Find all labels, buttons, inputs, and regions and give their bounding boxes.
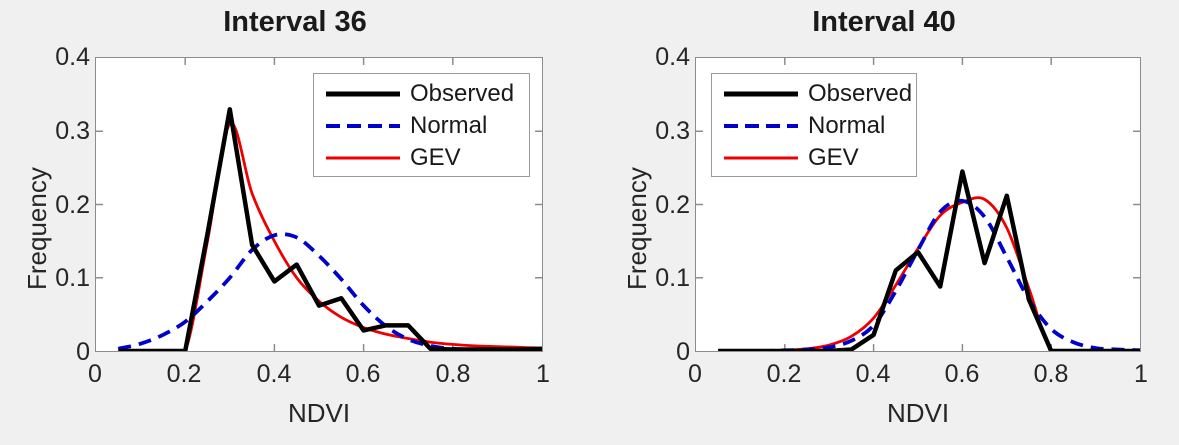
ytick-label: 0.3	[604, 119, 690, 144]
page-title: Interval 36	[0, 6, 590, 39]
xtick-label: 0.6	[922, 360, 1002, 389]
xtick-label: 1	[1101, 360, 1179, 389]
legend-line-normal-icon	[324, 116, 402, 136]
x-axis-label: NDVI	[695, 398, 1141, 429]
legend-item-gev: GEV	[722, 142, 859, 174]
legend-label: Normal	[410, 114, 487, 138]
legend-line-observed-icon	[324, 84, 402, 104]
legend-label: Normal	[808, 114, 885, 138]
legend-item-normal: Normal	[722, 110, 885, 142]
xtick-label: 0.8	[1011, 360, 1091, 389]
xtick-label: 0.2	[144, 360, 224, 389]
xtick-label: 0.8	[413, 360, 493, 389]
y-axis-label: Frequency	[622, 167, 653, 290]
legend: Observed Normal GEV	[711, 73, 917, 177]
xtick-label: 0	[55, 360, 135, 389]
legend-label: GEV	[808, 146, 859, 170]
ytick-label: 0.4	[4, 45, 90, 70]
series-line-normal	[118, 234, 542, 349]
page-title: Interval 40	[589, 6, 1179, 39]
xtick-label: 0	[655, 360, 735, 389]
legend-item-observed: Observed	[324, 78, 514, 110]
legend-line-gev-icon	[324, 148, 402, 168]
xtick-label: 0.2	[744, 360, 824, 389]
legend-item-normal: Normal	[324, 110, 487, 142]
panel-interval-40: Interval 40 0.4 0.3 0.2 0.1 0 0 0.2 0.4 …	[589, 0, 1179, 445]
xtick-label: 1	[503, 360, 583, 389]
series-line-observed	[718, 172, 1140, 351]
ytick-label: 0.3	[4, 119, 90, 144]
legend-item-gev: GEV	[324, 142, 461, 174]
legend-label: GEV	[410, 146, 461, 170]
legend-line-normal-icon	[722, 116, 800, 136]
xtick-label: 0.4	[833, 360, 913, 389]
panel-interval-36: Interval 36 0.4 0.3 0.2 0.1 0 0 0.2 0.4 …	[0, 0, 590, 445]
series-line-normal	[718, 201, 1140, 351]
legend-line-observed-icon	[722, 84, 800, 104]
figure-container: Interval 36 0.4 0.3 0.2 0.1 0 0 0.2 0.4 …	[0, 0, 1179, 445]
legend-label: Observed	[410, 82, 514, 106]
ytick-label: 0.4	[604, 45, 690, 70]
y-axis-label: Frequency	[22, 167, 53, 290]
x-axis-label: NDVI	[95, 398, 543, 429]
legend-line-gev-icon	[722, 148, 800, 168]
xtick-label: 0.6	[323, 360, 403, 389]
xtick-label: 0.4	[234, 360, 314, 389]
legend: Observed Normal GEV	[313, 73, 530, 177]
legend-label: Observed	[808, 82, 912, 106]
series-line-gev	[718, 198, 1140, 351]
legend-item-observed: Observed	[722, 78, 912, 110]
